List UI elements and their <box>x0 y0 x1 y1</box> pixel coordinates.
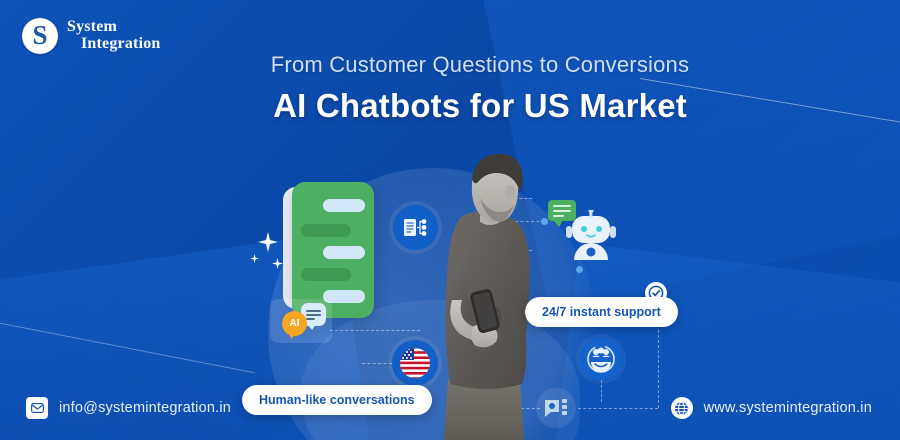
envelope-glyph <box>31 403 44 413</box>
connector-line-smile-vertical <box>601 380 602 402</box>
circle-s-logo-icon: S <box>22 18 58 54</box>
footer-email-text: info@systemintegration.in <box>59 400 231 416</box>
ai-chat-bubble-icon: AI <box>282 311 307 336</box>
brand-name: System Integration <box>67 19 161 53</box>
brand-logo[interactable]: S System Integration <box>22 18 161 54</box>
green-chat-card-icon <box>292 182 374 318</box>
logo-mark-letter: S <box>32 22 47 49</box>
page-title: AI Chatbots for US Market <box>60 87 900 125</box>
headline-kicker: From Customer Questions to Conversions <box>60 52 900 78</box>
envelope-icon <box>26 397 48 419</box>
status-badge-human[interactable]: Human-like conversations <box>242 385 432 415</box>
us-flag-glyph <box>398 346 432 380</box>
connector-line-right-vertical <box>658 330 659 408</box>
chat-card-bar-3 <box>323 246 365 259</box>
status-badge-support[interactable]: 24/7 instant support <box>525 297 678 327</box>
message-bubble-line-3 <box>306 318 315 320</box>
chat-feedback-icon[interactable] <box>536 388 576 428</box>
brand-name-line2: Integration <box>81 36 161 53</box>
us-flag-icon[interactable] <box>392 340 438 386</box>
customer-satisfaction-icon[interactable] <box>580 338 622 380</box>
globe-glyph <box>674 401 689 416</box>
footer-website-text: www.systemintegration.in <box>704 400 872 416</box>
message-bubble-line-2 <box>306 314 321 316</box>
chat-feedback-glyph <box>543 396 569 420</box>
footer-website[interactable]: www.systemintegration.in <box>671 397 872 419</box>
message-bubble-line-1 <box>306 310 321 312</box>
headline-block: From Customer Questions to Conversions A… <box>0 52 900 125</box>
connector-line-flag-left <box>362 363 392 364</box>
robot-body-glyph <box>560 210 622 268</box>
connector-line-bottom-right <box>578 408 658 409</box>
chat-card-bar-4 <box>301 268 351 281</box>
globe-icon <box>671 397 693 419</box>
customer-satisfaction-glyph <box>586 344 616 374</box>
man-using-smartphone-photo <box>418 150 558 440</box>
footer-email[interactable]: info@systemintegration.in <box>26 397 231 419</box>
ai-bubble-label: AI <box>290 318 300 329</box>
brand-name-line1: System <box>67 19 161 36</box>
connector-line-card-to-phone <box>330 330 420 331</box>
promotional-banner: S System Integration From Customer Quest… <box>0 0 900 440</box>
chat-card-bar-1 <box>323 199 365 212</box>
chat-card-bar-2 <box>301 224 351 237</box>
